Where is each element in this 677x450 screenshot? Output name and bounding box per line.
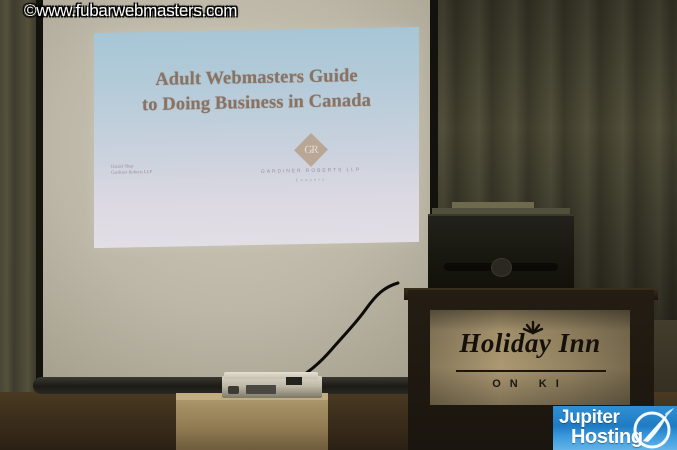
slide-title-line2: to Doing Business in Canada <box>94 88 419 119</box>
hotel-location-label: ON KI <box>430 378 630 390</box>
site-watermark: ©www.fubarwebmasters.com <box>24 1 237 21</box>
screen-border-left <box>36 0 43 392</box>
pedestal-table <box>176 395 328 450</box>
projector-panel <box>286 377 302 385</box>
logo-tagline: Lawyers <box>246 176 376 183</box>
jupiter-hosting-badge[interactable]: Jupiter Hosting <box>553 406 677 450</box>
case-latch-icon <box>491 258 512 277</box>
sign-divider <box>456 370 606 372</box>
firm-logo: GR GARDINER ROBERTS LLP Lawyers <box>246 137 376 183</box>
slide-presenter-block: Daniel Shap Gardiner Roberts LLP <box>111 163 152 176</box>
diamond-logo-icon: GR <box>294 133 328 167</box>
holiday-inn-sign: Holiday Inn ON KI <box>430 310 630 405</box>
logo-firm-name: GARDINER ROBERTS LLP <box>246 167 376 175</box>
presenter-firm: Gardiner Roberts LLP <box>111 169 152 176</box>
equipment-case <box>428 214 574 292</box>
projector-lid <box>224 372 318 379</box>
photo-screenshot: Adult Webmasters Guide to Doing Business… <box>0 0 677 450</box>
logo-monogram: GR <box>299 138 323 162</box>
projector-vent <box>246 385 276 394</box>
slide-title: Adult Webmasters Guide to Doing Business… <box>94 63 419 119</box>
comet-swoosh-icon <box>629 408 675 450</box>
projector-lens-icon <box>228 386 239 394</box>
holiday-inn-wordmark: Holiday Inn <box>430 328 630 359</box>
presentation-slide: Adult Webmasters Guide to Doing Business… <box>94 27 419 248</box>
